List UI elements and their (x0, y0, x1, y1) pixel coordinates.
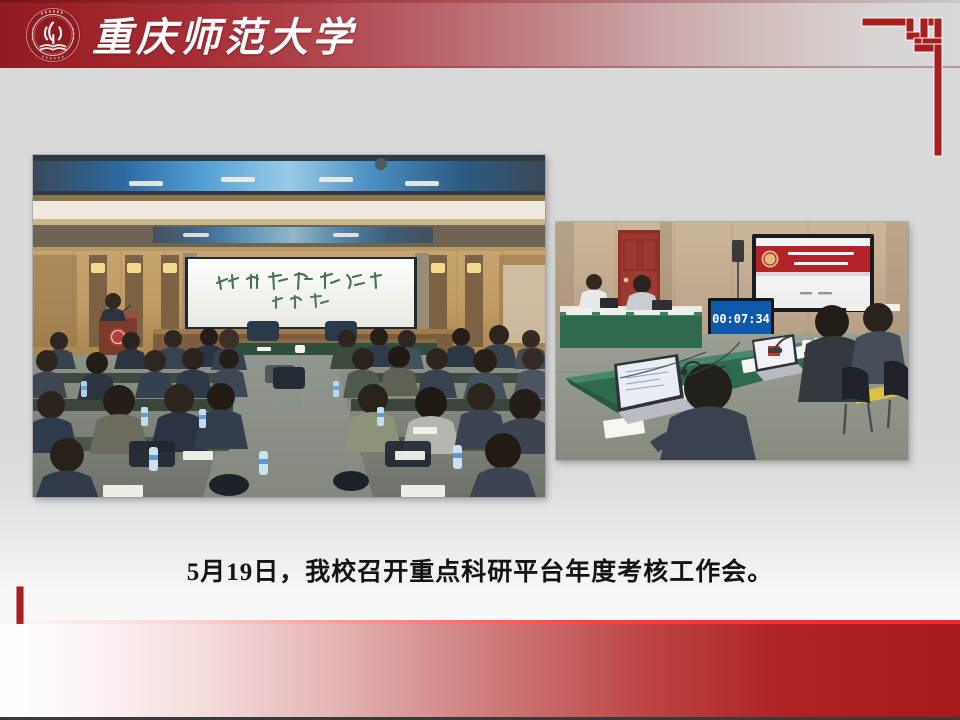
footer-banner (0, 624, 960, 720)
meeting-room-photo: 00:07:34 (556, 222, 908, 460)
slide-caption: 5月19日，我校召开重点科研平台年度考核工作会。 (0, 552, 960, 588)
university-seal-icon (24, 6, 82, 64)
slide-root: 重庆师范大学 (0, 0, 960, 720)
timer-readout: 00:07:34 (712, 312, 770, 326)
conference-hall-photo (33, 155, 545, 497)
university-name: 重庆师范大学 (92, 4, 356, 64)
corner-ornament-top-right-icon (860, 10, 948, 160)
header-top-rule (0, 0, 960, 3)
